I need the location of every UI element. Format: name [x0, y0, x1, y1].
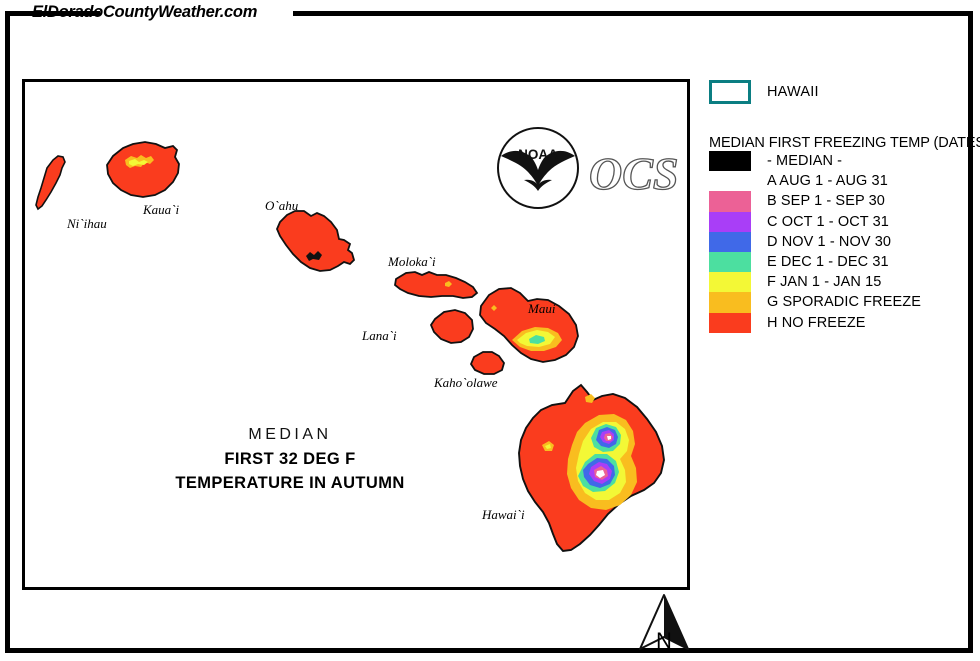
legend-label-b: B SEP 1 - SEP 30 [767, 193, 885, 209]
ocs-logo-text: OCS [589, 148, 678, 199]
legend-label-e: E DEC 1 - DEC 31 [767, 254, 889, 270]
frame-bottom-bar [5, 648, 973, 653]
legend-panel: HAWAII MEDIAN FIRST FREEZING TEMP (DATES… [709, 79, 975, 333]
island-kauai [107, 142, 179, 197]
legend-swatch-median [709, 151, 751, 171]
legend-label-g: G SPORADIC FREEZE [767, 294, 921, 310]
caption-line-threshold: FIRST 32 DEG F [145, 450, 435, 469]
caption-line-median: MEDIAN [145, 426, 435, 444]
caption-line-season: TEMPERATURE IN AUTUMN [145, 474, 435, 493]
legend-row-g: G SPORADIC FREEZE [709, 292, 975, 312]
frame-left-bar [5, 11, 10, 653]
island-kahoolawe [471, 352, 504, 374]
legend-hawaii-label: HAWAII [767, 84, 819, 100]
legend-label-h: H NO FREEZE [767, 315, 866, 331]
island-lanai [431, 310, 473, 343]
legend-label-a: A AUG 1 - AUG 31 [767, 173, 888, 189]
legend-swatch-e [709, 252, 751, 272]
island-oahu [277, 211, 354, 271]
label-molokai: Moloka`i [388, 254, 436, 270]
legend-swatch-b [709, 191, 751, 211]
legend-label-d: D NOV 1 - NOV 30 [767, 234, 891, 250]
legend-row-c: C OCT 1 - OCT 31 [709, 212, 975, 232]
noaa-logo-text: NOAA [518, 147, 558, 162]
legend-row-b: B SEP 1 - SEP 30 [709, 191, 975, 211]
island-niihau [36, 156, 65, 209]
map-caption: MEDIAN FIRST 32 DEG F TEMPERATURE IN AUT… [145, 426, 435, 493]
legend-swatch-g [709, 292, 751, 312]
map-panel: Ni`ihau Kaua`i O`ahu Moloka`i Lana`i Mau… [22, 79, 690, 590]
legend-swatch-a [709, 171, 751, 191]
label-oahu: O`ahu [265, 198, 298, 214]
legend-row-f: F JAN 1 - JAN 15 [709, 272, 975, 292]
frame-top-right-bar [293, 11, 973, 16]
legend-swatch-d [709, 232, 751, 252]
island-molokai [395, 272, 477, 298]
legend-title: MEDIAN FIRST FREEZING TEMP (DATES) [709, 135, 975, 151]
legend-row-a: A AUG 1 - AUG 31 [709, 171, 975, 191]
label-niihau: Ni`ihau [67, 216, 107, 232]
legend-hawaii-swatch [709, 80, 751, 104]
label-hawaii: Hawai`i [482, 507, 525, 523]
legend-entry-list: - MEDIAN -A AUG 1 - AUG 31B SEP 1 - SEP … [709, 151, 975, 333]
legend-row-e: E DEC 1 - DEC 31 [709, 252, 975, 272]
legend-swatch-c [709, 212, 751, 232]
noaa-logo: NOAA [496, 126, 580, 210]
label-lanai: Lana`i [362, 328, 397, 344]
legend-swatch-f [709, 272, 751, 292]
legend-swatch-h [709, 313, 751, 333]
island-hawaii-big [519, 385, 664, 551]
label-maui: Maui [528, 301, 555, 317]
north-arrow-label: N [634, 628, 694, 654]
legend-row-d: D NOV 1 - NOV 30 [709, 232, 975, 252]
legend-row-h: H NO FREEZE [709, 313, 975, 333]
label-kahoolawe: Kaho`olawe [434, 375, 498, 391]
legend-hawaii-entry: HAWAII [709, 79, 975, 105]
island-maui [480, 288, 578, 362]
label-kauai: Kaua`i [143, 202, 179, 218]
legend-label-median: - MEDIAN - [767, 153, 842, 169]
ocs-logo: OCS [587, 145, 690, 205]
legend-label-f: F JAN 1 - JAN 15 [767, 274, 881, 290]
legend-row-median: - MEDIAN - [709, 151, 975, 171]
site-title: ElDoradoCountyWeather.com [32, 3, 257, 22]
legend-label-c: C OCT 1 - OCT 31 [767, 214, 889, 230]
